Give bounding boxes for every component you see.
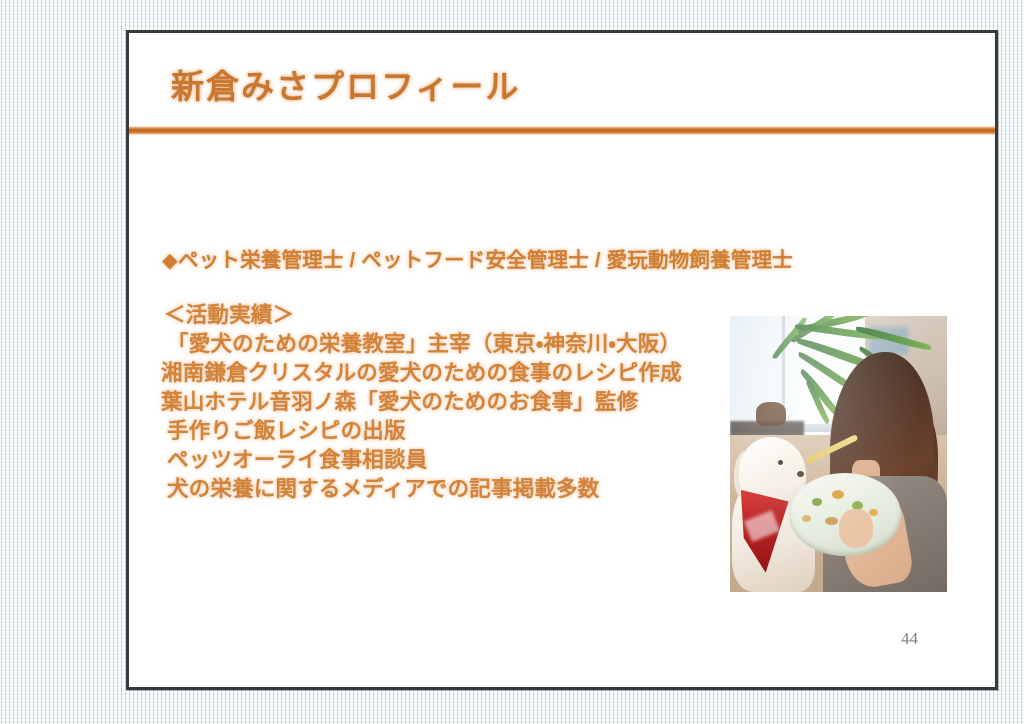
activities-block: ＜活動実績＞ 「愛犬のための栄養教室」主宰（東京・神奈川・大阪） 湘南鎌倉クリス… — [161, 301, 682, 504]
credentials-line: ◆ペット栄養管理士 / ペットフード安全管理士 / 愛玩動物飼養管理士 — [162, 243, 793, 273]
profile-photo — [730, 316, 947, 592]
activity-item: 湘南鎌倉クリスタルの愛犬のための食事のレシピ作成 — [161, 359, 682, 388]
activity-item: 葉山ホテル音羽ノ森「愛犬のためのお食事」監修 — [161, 388, 682, 417]
activity-item: 「愛犬のための栄養教室」主宰（東京・神奈川・大阪） — [161, 330, 682, 359]
page-title: 新倉みさプロフィール — [171, 60, 520, 108]
activity-item: 犬の栄養に関するメディアでの記事掲載多数 — [161, 475, 682, 504]
page-number: 44 — [901, 629, 918, 649]
activity-item: 手作りご飯レシピの出版 — [161, 417, 682, 446]
title-area: 新倉みさプロフィール — [129, 33, 995, 133]
title-divider-rule — [129, 126, 995, 135]
photo-light-glow — [730, 316, 947, 592]
activity-item: ペッツオーライ食事相談員 — [161, 446, 682, 475]
slide-frame: 新倉みさプロフィール ◆ペット栄養管理士 / ペットフード安全管理士 / 愛玩動… — [126, 30, 998, 690]
activities-heading: ＜活動実績＞ — [161, 301, 682, 330]
